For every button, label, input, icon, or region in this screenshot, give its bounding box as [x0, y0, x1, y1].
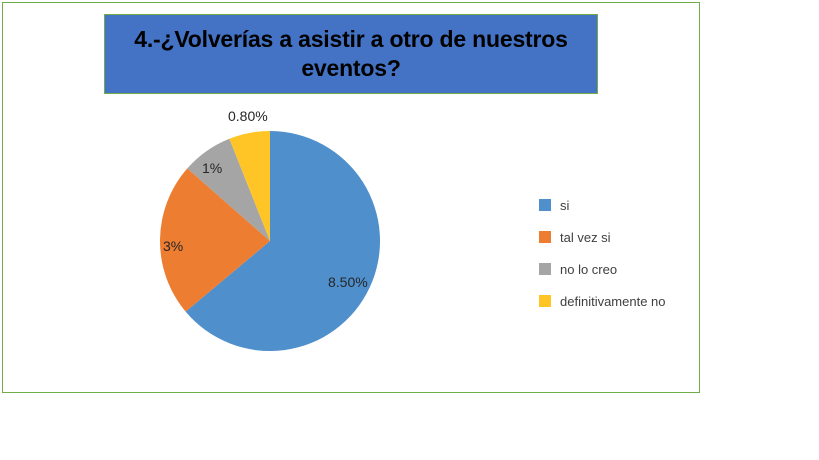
- legend-swatch-icon-no-lo-creo: [539, 263, 551, 275]
- pie-svg: [160, 131, 380, 351]
- pie-data-label-si: 8.50%: [328, 274, 368, 290]
- legend-swatch-icon-si: [539, 199, 551, 211]
- chart-title-banner: 4.-¿Volverías a asistir a otro de nuestr…: [104, 14, 598, 94]
- legend-item-no-lo-creo[interactable]: no lo creo: [539, 253, 666, 285]
- pie-data-label-tal-vez-si: 3%: [163, 238, 183, 254]
- pie-data-label-no-lo-creo: 1%: [202, 160, 222, 176]
- page-title: 4.-¿Volverías a asistir a otro de nuestr…: [105, 25, 597, 83]
- legend-label-si: si: [560, 198, 569, 213]
- legend-label-no-lo-creo: no lo creo: [560, 262, 617, 277]
- chart-frame: 4.-¿Volverías a asistir a otro de nuestr…: [2, 2, 700, 393]
- legend-label-definitivamente-no: definitivamente no: [560, 294, 666, 309]
- legend-swatch-icon-tal-vez-si: [539, 231, 551, 243]
- legend-item-si[interactable]: si: [539, 189, 666, 221]
- legend-item-tal-vez-si[interactable]: tal vez si: [539, 221, 666, 253]
- legend-label-tal-vez-si: tal vez si: [560, 230, 611, 245]
- pie-data-label-definitivamente-no: 0.80%: [228, 108, 268, 124]
- pie-chart: [160, 131, 380, 351]
- chart-legend: si tal vez si no lo creo definitivamente…: [539, 189, 666, 317]
- legend-item-definitivamente-no[interactable]: definitivamente no: [539, 285, 666, 317]
- legend-swatch-icon-definitivamente-no: [539, 295, 551, 307]
